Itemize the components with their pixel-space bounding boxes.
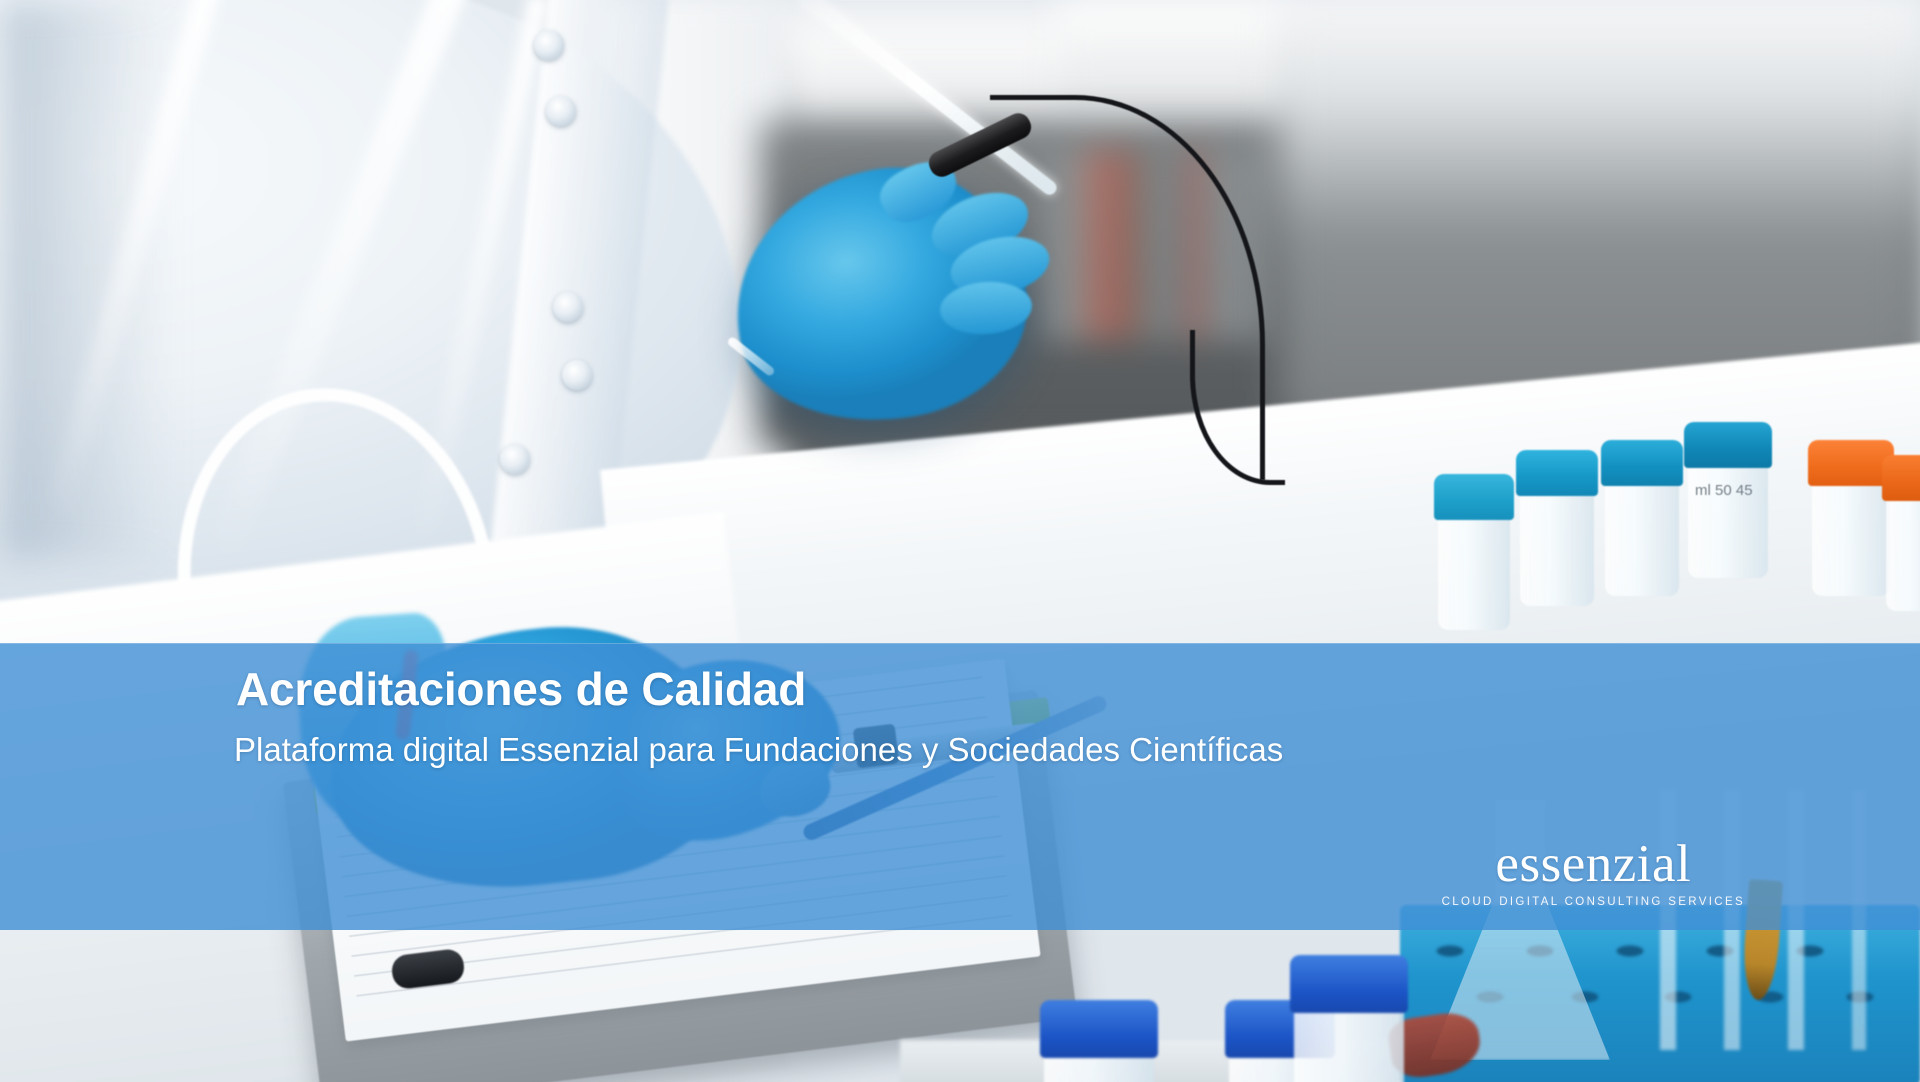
reagent-bottle xyxy=(1040,1000,1158,1082)
vial-body xyxy=(1886,491,1920,611)
page-subtitle: Plataforma digital Essenzial para Fundac… xyxy=(234,730,1283,770)
vial-body xyxy=(1438,510,1510,630)
reagent-bottle xyxy=(1290,955,1408,1082)
logo-wordmark: essenzial xyxy=(1442,838,1745,891)
vial-body xyxy=(1520,486,1594,606)
lab-coat-button xyxy=(500,444,530,474)
specimen-vial xyxy=(1520,450,1594,620)
vial-cap xyxy=(1516,450,1598,496)
page-title: Acreditaciones de Calidad xyxy=(236,664,1283,716)
bottle-cap xyxy=(1040,1000,1158,1058)
specimen-vial-orange xyxy=(1886,455,1920,625)
specimen-vial-orange xyxy=(1812,440,1890,620)
hero-banner-image: ml 50 45 xyxy=(0,0,1920,1082)
lab-coat-button xyxy=(534,30,564,60)
vial-body xyxy=(1812,476,1890,596)
specimen-vial xyxy=(1605,440,1679,620)
vial-body xyxy=(1605,476,1679,596)
vial-cap xyxy=(1882,455,1920,501)
lab-coat-shadow xyxy=(0,0,170,560)
vial-cap xyxy=(1601,440,1683,486)
vial-scale-markings: ml 50 45 xyxy=(1695,482,1757,532)
vial-cap xyxy=(1684,422,1772,468)
banner-text-block: Acreditaciones de Calidad Plataforma dig… xyxy=(236,664,1283,769)
bottle-body xyxy=(1294,1007,1404,1082)
lab-coat-button xyxy=(546,96,576,126)
essenzial-logo[interactable]: essenzial CLOUD DIGITAL CONSULTING SERVI… xyxy=(1442,838,1745,908)
logo-tagline: CLOUD DIGITAL CONSULTING SERVICES xyxy=(1442,896,1745,908)
lab-coat-button xyxy=(553,292,583,322)
bottle-cap xyxy=(1290,955,1408,1013)
lab-coat-button xyxy=(562,360,592,390)
specimen-vial xyxy=(1438,474,1510,634)
overlay-banner: Acreditaciones de Calidad Plataforma dig… xyxy=(0,643,1920,930)
vial-cap xyxy=(1434,474,1514,520)
